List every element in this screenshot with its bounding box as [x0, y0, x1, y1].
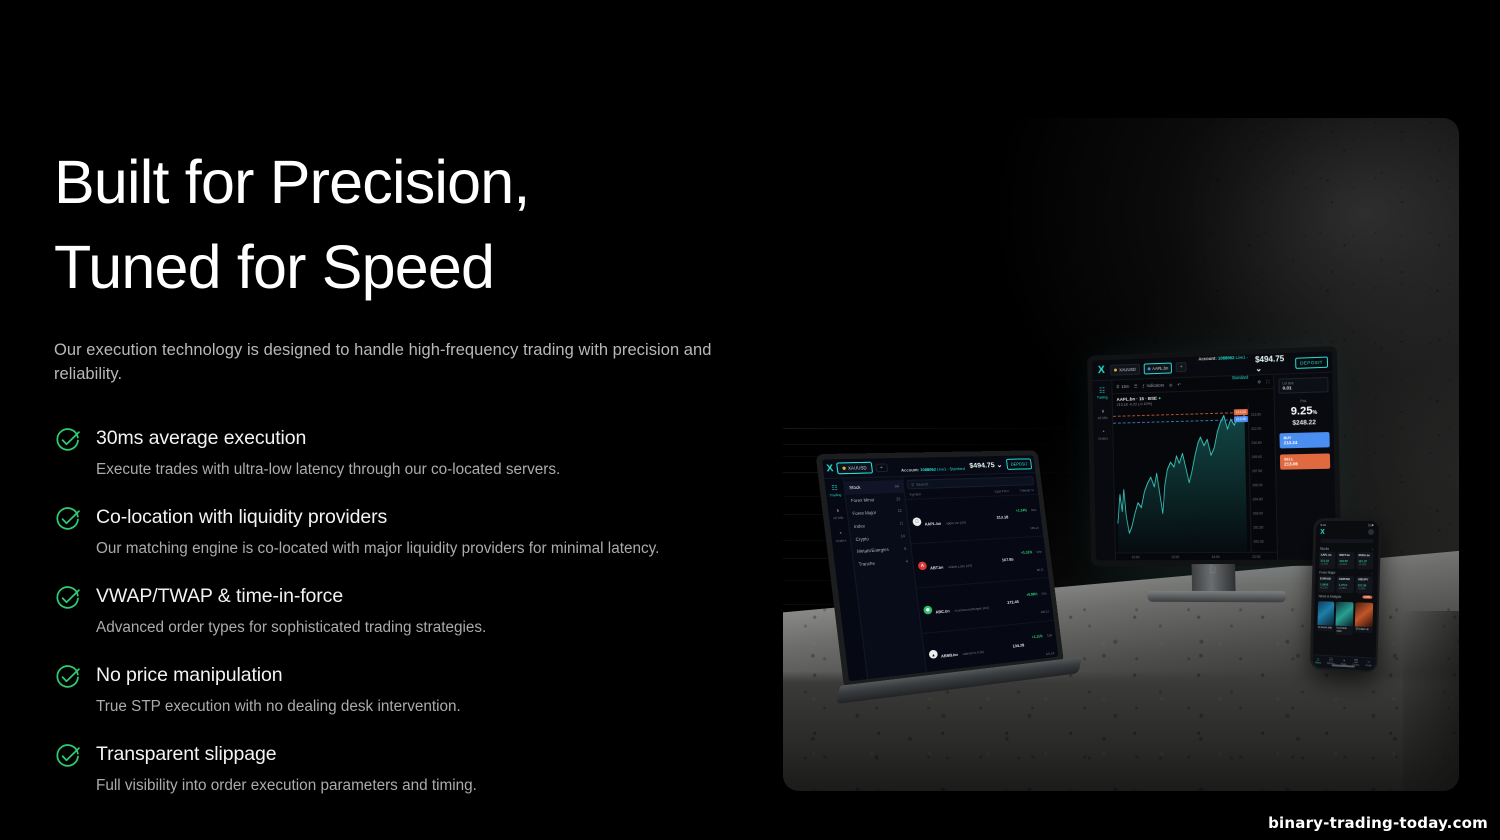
- desk-edge-shadow: [1403, 611, 1459, 791]
- settings-button[interactable]: ⚙: [1257, 379, 1261, 384]
- check-circle-icon: [54, 585, 81, 612]
- laptop-screen: X XAUUSD + Account: 1088062 Live1 - Stan…: [822, 455, 1059, 681]
- card-delta: +2.10%: [1358, 563, 1371, 566]
- gear-icon: ⚙: [1257, 379, 1261, 384]
- section-title: Forex Major: [1319, 570, 1335, 574]
- card-ticker: EURUSD: [1320, 577, 1333, 580]
- asset-fullname: Abbott Labs (US): [948, 563, 973, 569]
- axis-tick: 12:00: [1171, 555, 1179, 559]
- nav-item-orders[interactable]: ◔ Orders: [1098, 429, 1108, 441]
- card-ticker: USDJPY: [1358, 578, 1371, 581]
- sell-price-tag: 213.24: [1234, 409, 1248, 415]
- chevron-right-icon[interactable]: ›: [1372, 547, 1373, 551]
- asset-price: 172.45: [997, 599, 1019, 606]
- brand-logo-icon: X: [1096, 365, 1107, 376]
- watchlist-panel: ⚲ Search Symbol Spot Price Change % : [903, 473, 1059, 672]
- markets-icon: ◑: [832, 508, 843, 515]
- axis-tick: 207.50: [1252, 469, 1275, 473]
- nav-item-trading[interactable]: ☷ Trading: [829, 485, 842, 497]
- news-thumbnail: [1355, 602, 1373, 627]
- category-count: 4: [906, 559, 909, 563]
- bars-icon: ☰: [1134, 384, 1138, 389]
- account-balance: $494.75 ⌄: [967, 460, 1005, 469]
- account-label: Account: 1088062: [1198, 355, 1235, 361]
- buy-price-tag: 213.06: [1234, 416, 1248, 422]
- chart-type-button[interactable]: ☰: [1134, 384, 1138, 389]
- indicators-button[interactable]: ƒ Indicators: [1142, 383, 1164, 389]
- chart-svg: [1113, 404, 1251, 553]
- phone-body: 9:41 ▯△■ X Stocks › AAPL.bn: [1310, 518, 1381, 673]
- feature-description: Our matching engine is co-located with m…: [96, 539, 754, 559]
- column-price: Spot Price: [987, 489, 1009, 494]
- axis-tick: 203.00: [1253, 511, 1276, 515]
- laptop-body: ☷ Trading ◑ All Mkt ◔ Orders: [824, 473, 1058, 681]
- change-sub: 52w 160.12: [1040, 591, 1049, 614]
- card-ticker: AAPL.bn: [1321, 554, 1334, 557]
- change-sub: 52w 185.19: [1030, 508, 1039, 530]
- category-count: 23: [896, 497, 901, 501]
- pnl-percent: 9.25%: [1279, 404, 1329, 418]
- symbol-tab-label: XAUUSD: [1119, 366, 1136, 372]
- asset-change: +1.24% 52w 185.19: [1009, 498, 1039, 535]
- axis-tick: 10:00: [1132, 555, 1140, 559]
- mobile-phone-device: 9:41 ▯△■ X Stocks › AAPL.bn: [1310, 518, 1381, 673]
- category-label: Metals/Energies: [857, 547, 889, 554]
- nav-label: Trading: [1097, 395, 1108, 399]
- change-percent: +1.11%: [1032, 634, 1043, 639]
- card-delta: +1.24%: [1320, 563, 1333, 566]
- asset-icon: ▲: [929, 650, 938, 659]
- axis-tick: 204.50: [1253, 497, 1276, 501]
- hero-section: Built for Precision, Tuned for Speed Our…: [0, 0, 1500, 840]
- sell-button[interactable]: SELL 213.06: [1280, 454, 1330, 470]
- symbol-tab-label: XAUUSD: [848, 465, 867, 471]
- category-count: 11: [899, 522, 903, 526]
- product-showcase-image: X XAUUSD AAPL.bn + Account:: [783, 118, 1459, 791]
- axis-tick: 213.50: [1251, 412, 1274, 417]
- snapshot-button[interactable]: ◎: [1169, 382, 1173, 387]
- chevron-right-icon[interactable]: ›: [1371, 571, 1372, 575]
- deposit-button[interactable]: DEPOSIT: [1295, 356, 1328, 368]
- tab-profile[interactable]: ○ Profile: [1365, 660, 1372, 668]
- search-input[interactable]: ⚲ Search: [907, 476, 1035, 489]
- clock-icon: ⏱: [1116, 384, 1119, 389]
- asset-icon: : [912, 517, 922, 526]
- symbol-tab-aapl[interactable]: AAPL.bn: [1143, 362, 1172, 374]
- undo-button[interactable]: ↶: [1177, 382, 1181, 387]
- buy-price: 213.24: [1284, 439, 1326, 445]
- category-item-tranche[interactable]: Tranche 4: [853, 555, 913, 571]
- timeframe-label: 15m: [1121, 384, 1129, 389]
- category-label: Forex Major: [852, 510, 876, 516]
- stock-card-grid: AAPL.bn 213.18 +1.24% MSFT.bn 419.52 +0.…: [1315, 551, 1378, 569]
- phone-tab-bar: ⌂ Home ☷ Markets ◑ Trade ☰: [1312, 654, 1375, 671]
- asset-ticker: ABT.bn: [930, 565, 944, 570]
- headline-line-2: Tuned for Speed: [54, 225, 754, 310]
- buy-button[interactable]: BUY 213.24: [1279, 432, 1329, 448]
- asset-change: +1.11% 52w 121.50: [1025, 623, 1055, 662]
- segment-control[interactable]: [1320, 538, 1373, 542]
- tab-label: Profile: [1365, 665, 1371, 667]
- section-title: News & Analysis: [1319, 594, 1342, 599]
- feature-description: Execute trades with ultra-low latency th…: [96, 460, 754, 480]
- news-caption: Oil edges up: [1355, 626, 1372, 633]
- lot-size-stepper[interactable]: Lot size 0.01: [1278, 377, 1328, 394]
- category-label: Stock: [849, 485, 861, 491]
- live-indicator-icon: ●: [1158, 396, 1161, 401]
- brand-logo-icon: X: [826, 464, 834, 474]
- tab-label: Home: [1315, 663, 1321, 665]
- card-delta: +0.91%: [1339, 563, 1352, 566]
- axis-tick: 14:00: [1212, 554, 1220, 558]
- asset-ticker: ABNB.bn: [941, 653, 958, 659]
- feature-title: No price manipulation: [96, 663, 754, 688]
- feature-list: 30ms average execution Execute trades wi…: [54, 426, 754, 796]
- news-card[interactable]: Fed holds rates: [1336, 601, 1354, 635]
- news-thumbnail: [1317, 601, 1334, 625]
- category-label: Tranche: [858, 561, 875, 567]
- timeframe-button[interactable]: ⏱ 15m: [1116, 384, 1129, 389]
- nav-label: Trading: [829, 493, 841, 498]
- category-count: 12: [897, 509, 902, 513]
- card-ticker: GBPUSD: [1339, 578, 1352, 581]
- monitor-body: ☷ Trading ◑ All Mkt ◔ Orders: [1092, 373, 1336, 561]
- asset-fullname: AmerisourceBergen (US): [954, 606, 990, 613]
- category-count: 6: [904, 547, 907, 551]
- home-icon: ⌂: [1315, 657, 1321, 662]
- check-circle-icon: [54, 506, 81, 533]
- forex-card-grid: EURUSD 1.0842 +0.12% GBPUSD 1.2714 +0.08…: [1314, 575, 1377, 593]
- feature-item: 30ms average execution Execute trades wi…: [54, 426, 754, 480]
- symbol-tab-label: AAPL.bn: [1152, 365, 1168, 371]
- asset-change: +0.86% 52w 160.12: [1019, 581, 1049, 619]
- watchlist-rows:  AAPL.bn Apple Inc (US) 213.18 +1.24% 5…: [906, 494, 1059, 672]
- asset-change: +1.02% 52w 98.21: [1014, 539, 1044, 577]
- monitor-screen: X XAUUSD AAPL.bn + Account:: [1092, 351, 1336, 560]
- feature-description: Advanced order types for sophisticated t…: [96, 618, 754, 638]
- check-circle-icon: [54, 743, 81, 770]
- add-tab-button[interactable]: +: [875, 463, 888, 472]
- news-card-row: AI stocks rally Fed holds rates Oil edge…: [1313, 599, 1377, 636]
- news-thumbnail: [1336, 601, 1354, 626]
- feature-item: VWAP/TWAP & time-in-force Advanced order…: [54, 584, 754, 638]
- news-card[interactable]: AI stocks rally: [1317, 601, 1335, 634]
- change-sub: 52w 121.50: [1046, 633, 1055, 656]
- search-icon: ⚲: [911, 482, 914, 486]
- feature-item: No price manipulation True STP execution…: [54, 663, 754, 717]
- sell-price: 213.06: [1284, 461, 1326, 467]
- account-number: 1088062: [920, 466, 936, 472]
- quote-card[interactable]: EURUSD 1.0842 +0.12%: [1318, 575, 1335, 592]
- status-badge: LIVE: [1362, 595, 1371, 598]
- nav-label: All Mkt: [833, 516, 844, 521]
- feature-item: Transparent slippage Full visibility int…: [54, 742, 754, 796]
- tab-home[interactable]: ⌂ Home: [1315, 657, 1321, 665]
- brand-logo-icon: X: [1320, 529, 1325, 536]
- pnl-label: PnL: [1279, 398, 1329, 404]
- desktop-monitor: X XAUUSD AAPL.bn + Account:: [1087, 346, 1341, 566]
- check-circle-icon: [54, 427, 81, 454]
- asset-icon: ⬢: [923, 605, 932, 614]
- feature-description: True STP execution with no dealing desk …: [96, 697, 754, 717]
- feature-title: 30ms average execution: [96, 426, 754, 451]
- pnl-amount: $248.22: [1279, 419, 1329, 427]
- change-sub: 52w 98.21: [1036, 549, 1044, 571]
- hero-subtitle: Our execution technology is designed to …: [54, 338, 714, 386]
- nav-item-all-markets[interactable]: ◑ All Mkt: [1098, 408, 1108, 420]
- nav-label: Orders: [836, 538, 847, 543]
- change-percent: +0.86%: [1026, 592, 1038, 597]
- account-label: Account: 1088062: [901, 466, 938, 472]
- indicators-label: Indicators: [1147, 383, 1165, 389]
- avatar[interactable]: [1367, 529, 1373, 535]
- apple-logo-icon: : [1209, 565, 1216, 575]
- price-chart[interactable]: 213.24 213.06: [1113, 404, 1251, 553]
- monitor-stand-foot: [1147, 591, 1286, 602]
- card-ticker: NVDA.bn: [1358, 554, 1371, 557]
- quote-card[interactable]: AAPL.bn 213.18 +1.24%: [1318, 551, 1335, 568]
- time-axis: 10:00 12:00 14:00 21:00: [1116, 552, 1277, 561]
- card-delta: +0.08%: [1339, 587, 1352, 590]
- symbol-tab-xauusd[interactable]: XAUUSD: [1110, 363, 1139, 375]
- camera-icon: ◎: [1169, 382, 1173, 387]
- expand-icon: ⛶: [1266, 379, 1269, 384]
- price-axis: 213.50 212.00 210.50 209.00 207.50 206.0…: [1248, 403, 1277, 552]
- phone-screen: 9:41 ▯△■ X Stocks › AAPL.bn: [1312, 520, 1379, 670]
- asset-fullname: Airbnb Inc (US): [962, 650, 984, 657]
- quote-card[interactable]: GBPUSD 1.2714 +0.08%: [1337, 575, 1354, 592]
- news-card[interactable]: Oil edges up: [1354, 602, 1372, 636]
- chart-column: ⏱ 15m ☰ ƒ Indicators ◎: [1112, 375, 1277, 561]
- news-caption: Fed holds rates: [1336, 625, 1353, 635]
- function-icon: ƒ: [1142, 383, 1144, 388]
- page-title: Built for Precision, Tuned for Speed: [54, 140, 754, 310]
- nav-label: All Mkt: [1098, 416, 1108, 420]
- column-change: Change %: [1009, 488, 1034, 493]
- laptop-lid: X XAUUSD + Account: 1088062 Live1 - Stan…: [816, 450, 1064, 689]
- change-percent: +1.24%: [1016, 508, 1028, 513]
- quote-card[interactable]: USDJPY 157.26 -0.18%: [1356, 576, 1374, 594]
- asset-name: ABNB.bn Airbnb Inc (US): [940, 638, 1001, 663]
- markets-icon: ◑: [1098, 408, 1108, 415]
- quote-card[interactable]: MSFT.bn 419.52 +0.91%: [1337, 551, 1355, 568]
- account-balance: $494.75 ⌄: [1252, 354, 1291, 374]
- asset-price: 107.55: [992, 557, 1014, 564]
- deposit-button[interactable]: DEPOSIT: [1006, 458, 1032, 470]
- quote-card[interactable]: NVDA.bn 121.37 +2.10%: [1356, 552, 1374, 569]
- asset-ticker: ABC.bn: [935, 609, 950, 614]
- undo-icon: ↶: [1177, 382, 1181, 387]
- news-caption: AI stocks rally: [1317, 624, 1334, 631]
- hero-text-column: Built for Precision, Tuned for Speed Our…: [54, 140, 754, 796]
- axis-tick: 200.00: [1253, 540, 1276, 544]
- axis-tick: 21:00: [1252, 554, 1260, 558]
- change-percent: +1.02%: [1021, 550, 1033, 555]
- asset-name: ABC.bn AmerisourceBergen (US): [934, 595, 995, 619]
- feature-title: Transparent slippage: [96, 742, 754, 767]
- asset-price: 213.18: [986, 514, 1008, 520]
- category-count: 64: [894, 484, 899, 488]
- nav-item-trading[interactable]: ☷ Trading: [1097, 388, 1108, 400]
- lot-size-value: 0.01: [1283, 384, 1325, 390]
- card-ticker: MSFT.bn: [1339, 554, 1352, 557]
- card-delta: -0.18%: [1358, 587, 1371, 590]
- account-type: Live1 - Standard: [937, 466, 965, 471]
- category-label: Forex Minor: [851, 497, 875, 503]
- watermark: binary-trading-today.com: [1268, 814, 1488, 832]
- category-label: Index: [854, 523, 866, 529]
- nav-item-all-markets[interactable]: ◑ All Mkt: [832, 508, 844, 520]
- orders-icon: ◔: [835, 531, 846, 538]
- feature-title: VWAP/TWAP & time-in-force: [96, 584, 754, 609]
- nav-item-orders[interactable]: ◔ Orders: [835, 531, 847, 544]
- symbol-dot-icon: [1147, 367, 1150, 370]
- asset-icon: A: [918, 561, 927, 570]
- account-number: 1088062: [1218, 355, 1235, 361]
- symbol-tab-xauusd[interactable]: XAUUSD: [836, 462, 873, 475]
- card-delta: +0.12%: [1320, 586, 1333, 589]
- section-title: Stocks: [1320, 546, 1329, 550]
- asset-price: 134.28: [1002, 642, 1024, 649]
- account-info: Account: 1088062 Live1 - Standard: [899, 455, 965, 477]
- symbol-dot-icon: [1114, 368, 1117, 371]
- category-label: Crypto: [855, 535, 869, 541]
- asset-name: ABT.bn Abbott Labs (US): [929, 552, 991, 575]
- feature-description: Full visibility into order execution par…: [96, 776, 754, 796]
- asset-fullname: Apple Inc (US): [945, 520, 966, 525]
- asset-ticker: AAPL.bn: [924, 521, 941, 526]
- feature-item: Co-location with liquidity providers Our…: [54, 505, 754, 559]
- check-circle-icon: [54, 664, 81, 691]
- add-tab-button[interactable]: +: [1176, 362, 1187, 372]
- trading-icon: ☷: [829, 485, 841, 492]
- fullscreen-button[interactable]: ⛶: [1266, 379, 1269, 384]
- chart-area: 213.24 213.06 213.50 212.00 210.50 209.0…: [1113, 403, 1277, 552]
- nav-label: Orders: [1098, 437, 1108, 441]
- trading-icon: ☷: [1097, 388, 1108, 395]
- axis-tick: 201.50: [1253, 525, 1276, 529]
- category-count: 14: [901, 534, 906, 538]
- asset-name: AAPL.bn Apple Inc (US): [923, 509, 985, 530]
- axis-tick: 206.00: [1252, 483, 1275, 487]
- axis-tick: 209.00: [1252, 455, 1275, 460]
- symbol-dot-icon: [842, 467, 846, 470]
- search-placeholder: Search: [916, 482, 928, 487]
- feature-title: Co-location with liquidity providers: [96, 505, 754, 530]
- monitor-bezel: X XAUUSD AAPL.bn + Account:: [1087, 346, 1341, 566]
- phone-header: X: [1315, 526, 1378, 537]
- headline-line-1: Built for Precision,: [54, 140, 754, 225]
- orders-icon: ◔: [1098, 429, 1108, 436]
- axis-tick: 212.00: [1251, 426, 1274, 431]
- axis-tick: 210.50: [1251, 440, 1274, 445]
- laptop-device: X XAUUSD + Account: 1088062 Live1 - Stan…: [816, 450, 1064, 689]
